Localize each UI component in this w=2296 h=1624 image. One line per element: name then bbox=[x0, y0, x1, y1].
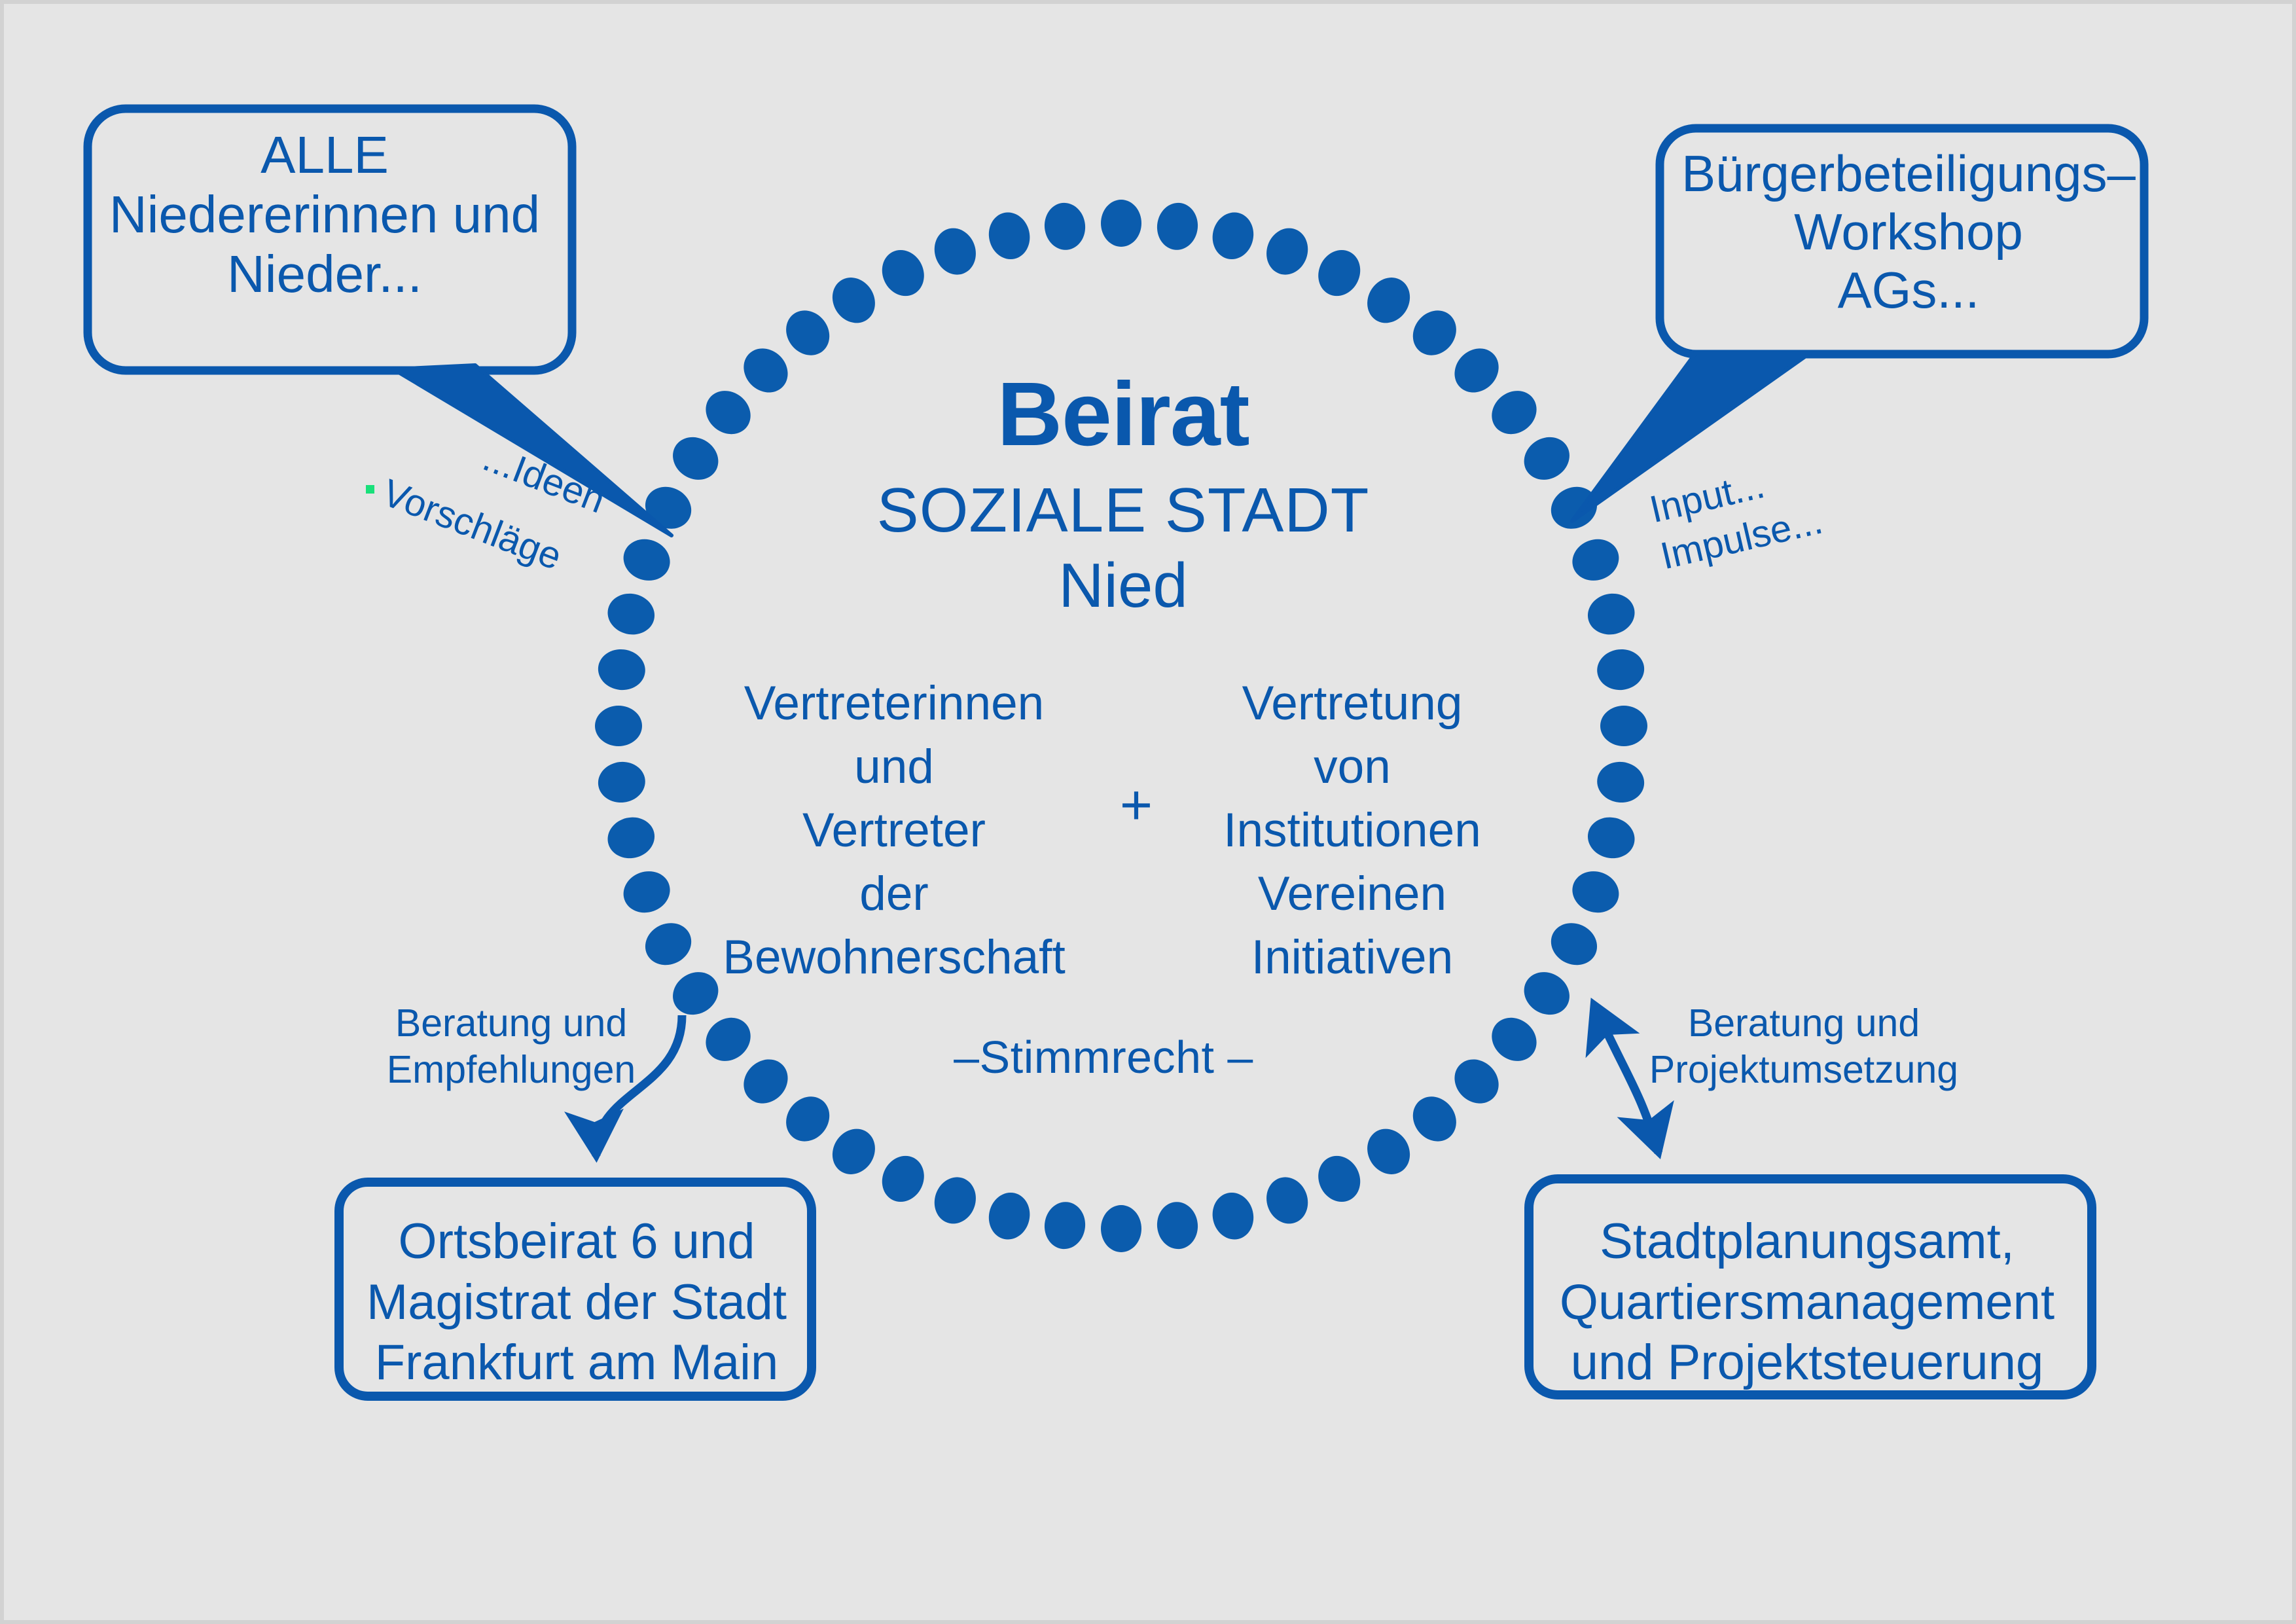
circle-dot bbox=[824, 270, 884, 331]
circle-dot bbox=[1483, 382, 1545, 442]
center-column-left: Vertreterinnen und Vertreter der Bewohne… bbox=[698, 672, 1090, 989]
circle-dot bbox=[1359, 1121, 1418, 1182]
circle-dot bbox=[777, 1088, 838, 1150]
circle-dot bbox=[735, 1051, 797, 1113]
circle-dot bbox=[1042, 201, 1088, 252]
circle-dot bbox=[928, 1172, 982, 1229]
circle-dot bbox=[638, 916, 698, 973]
circle-dot bbox=[1359, 270, 1418, 331]
diagram-canvas: ALLE Niedererinnen und Nieder... Bürgerb… bbox=[0, 0, 2296, 1624]
circle-dot bbox=[1101, 200, 1141, 247]
circle-dot bbox=[1404, 1088, 1465, 1150]
circle-dot bbox=[984, 1189, 1034, 1244]
circle-dot bbox=[618, 533, 675, 586]
circle-dot bbox=[596, 647, 647, 693]
center-subtitle-line1: SOZIALE STADT bbox=[757, 475, 1490, 546]
circle-dot bbox=[1155, 1200, 1200, 1251]
circle-dot bbox=[1155, 201, 1200, 252]
plus-sign: + bbox=[1090, 773, 1182, 838]
circle-dot bbox=[665, 429, 726, 488]
circle-dot bbox=[1567, 865, 1624, 918]
circle-dot bbox=[1483, 1009, 1545, 1070]
circle-dot bbox=[596, 759, 647, 805]
circle-dot bbox=[1260, 223, 1314, 280]
circle-dot bbox=[1311, 243, 1368, 303]
circle-dot bbox=[1595, 759, 1646, 805]
circle-dot bbox=[603, 813, 658, 863]
circle-dot bbox=[1584, 813, 1639, 863]
bubble-left-label: ALLE Niedererinnen und Nieder... bbox=[92, 125, 557, 304]
circle-dot bbox=[1595, 647, 1646, 693]
stimmrecht-note: –Stimmrecht – bbox=[907, 1032, 1300, 1083]
center-title: Beirat bbox=[757, 364, 1490, 465]
box-left-label: Ortsbeirat 6 und Magistrat der Stadt Fra… bbox=[351, 1212, 802, 1394]
circle-dot bbox=[777, 302, 838, 364]
circle-dot bbox=[1042, 1200, 1088, 1251]
circle-dot bbox=[1404, 302, 1465, 364]
circle-dot bbox=[1600, 706, 1647, 746]
green-marker-dot bbox=[366, 485, 374, 494]
circle-dot bbox=[1101, 1205, 1141, 1252]
circle-dot bbox=[928, 223, 982, 280]
circle-dot bbox=[1208, 208, 1258, 263]
bubble-right-label: Bürgerbeteiligungs– Workshop AGs... bbox=[1679, 145, 2138, 319]
circle-dot bbox=[1446, 1051, 1508, 1113]
circle-dot bbox=[697, 1009, 759, 1070]
circle-dot bbox=[1584, 589, 1639, 639]
circle-dot bbox=[1260, 1172, 1314, 1229]
label-beratung-empfehlungen: Beratung und Empfehlungen bbox=[357, 1000, 665, 1093]
circle-dot bbox=[1544, 916, 1604, 973]
label-beratung-projektumsetzung: Beratung und Projektumsetzung bbox=[1634, 1000, 1974, 1093]
circle-dot bbox=[1311, 1149, 1368, 1209]
circle-dot bbox=[874, 1149, 931, 1209]
center-subtitle-line2: Nied bbox=[757, 550, 1490, 621]
circle-dot bbox=[1516, 429, 1577, 488]
circle-dot bbox=[603, 589, 658, 639]
circle-dot bbox=[824, 1121, 884, 1182]
center-column-right: Vertretung von Institutionen Vereinen In… bbox=[1175, 672, 1529, 989]
circle-dot bbox=[1567, 533, 1624, 586]
circle-dot bbox=[984, 208, 1034, 263]
circle-dot bbox=[697, 382, 759, 442]
box-right-label: Stadtplanungsamt, Quartiersmanagement un… bbox=[1545, 1212, 2069, 1394]
circle-dot bbox=[618, 865, 675, 918]
circle-dot bbox=[874, 243, 931, 303]
circle-dot bbox=[1208, 1189, 1258, 1244]
circle-dot bbox=[595, 706, 642, 746]
